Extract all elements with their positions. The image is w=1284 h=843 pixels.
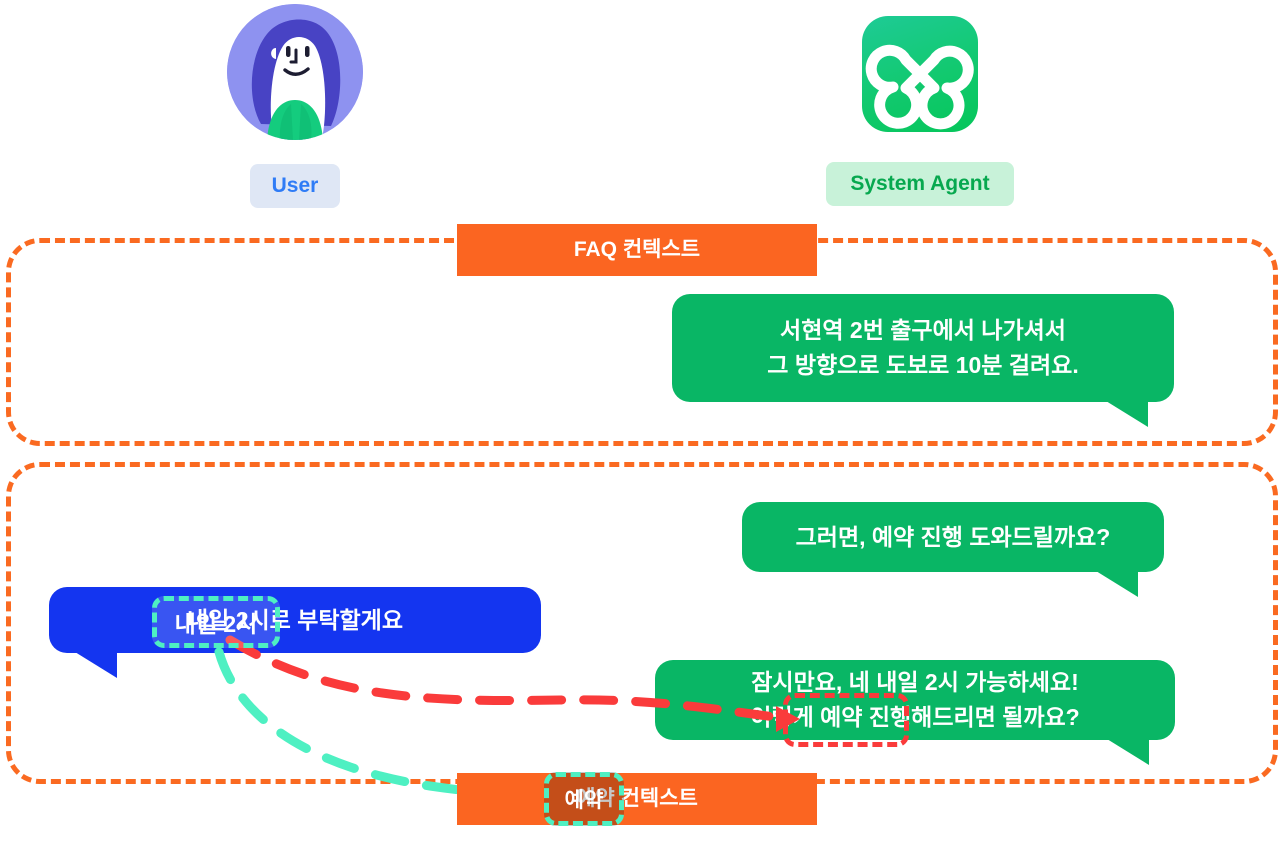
- message-bubble-user-request: 내일 2시로 부탁할게요: [49, 587, 541, 653]
- bubble-tail: [75, 652, 117, 678]
- highlight-booking-keyword: 예약: [544, 772, 624, 826]
- clover-x-logo-icon: [862, 16, 978, 132]
- bubble-tail: [1106, 401, 1148, 427]
- highlight-action-phrase: [783, 693, 909, 747]
- actor-user: User: [180, 4, 410, 208]
- actor-agent-label: System Agent: [826, 162, 1013, 206]
- message-text: 서현역 2번 출구에서 나가셔서 그 방향으로 도보로 10분 걸려요.: [767, 313, 1078, 383]
- context-label-booking: 예약 컨텍스트: [457, 773, 817, 825]
- context-label-faq: FAQ 컨텍스트: [457, 224, 817, 276]
- message-text: 그러면, 예약 진행 도와드릴까요?: [796, 520, 1111, 555]
- bubble-tail: [1107, 739, 1149, 765]
- user-avatar-illustration: [227, 4, 363, 140]
- message-bubble-agent-offer: 그러면, 예약 진행 도와드릴까요?: [742, 502, 1164, 572]
- message-bubble-agent-confirm: 잠시만요, 네 내일 2시 가능하세요! 이렇게 예약 진행해드리면 될까요?: [655, 660, 1175, 740]
- actor-user-label: User: [250, 164, 341, 208]
- conversation-diagram: User System Agent 서현역 2번 출구에서 나가셔서 그 방향으…: [0, 0, 1284, 843]
- bubble-tail: [1096, 571, 1138, 597]
- message-bubble-agent-faq: 서현역 2번 출구에서 나가셔서 그 방향으로 도보로 10분 걸려요.: [672, 294, 1174, 402]
- highlight-time-slot: 내일 2시: [152, 596, 280, 648]
- actor-system-agent: System Agent: [800, 4, 1040, 206]
